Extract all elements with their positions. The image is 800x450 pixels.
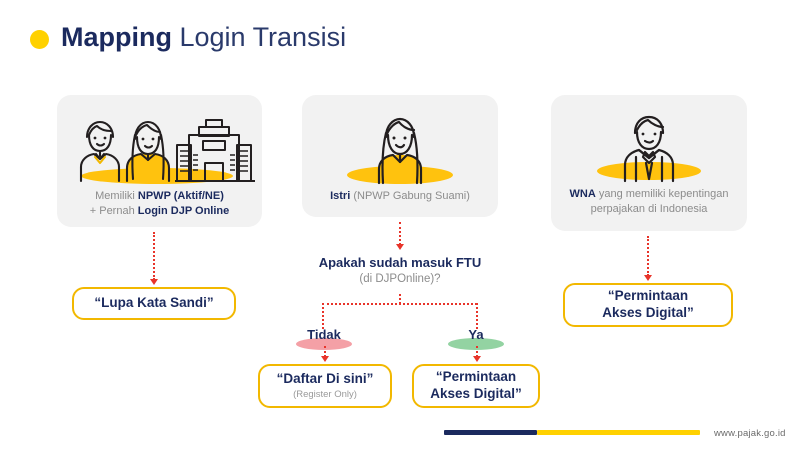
branch-text-yes: Ya [441,327,511,342]
branch-leg-yes [476,303,478,329]
woman-avatar-icon [335,95,465,189]
page-header: Mapping Login Transisi [30,24,346,51]
branch-label-ya: Ya [441,327,511,342]
branch-text-no: Tidak [289,327,359,342]
branch-label-tidak: Tidak [289,327,359,342]
outcome-daftar-di-sini[interactable]: “Daftar Di sini” (Register Only) [258,364,392,408]
outcome-akses-line-1: “Permintaan [608,288,688,305]
arrow-head-card1 [150,279,158,285]
footer-url: www.pajak.go.id [714,428,786,439]
connector-card2-to-question [399,222,401,245]
arrow-head-no [321,356,329,362]
businessman-avatar-icon [584,95,714,187]
decision-question-line-2: (di DJPOnline)? [283,272,517,287]
card-npwp-aktif: Memiliki NPWP (Aktif/NE) + Pernah Login … [57,95,262,227]
outcome-akses2-line-1: “Permintaan [436,369,516,386]
page-title-bold: Mapping [61,22,172,52]
connector-card3-to-akses [647,236,649,276]
card-caption-wna: WNA yang memiliki kepentingan perpajakan… [551,187,747,217]
outcome-daftar-sublabel: (Register Only) [293,389,357,401]
card-wna: WNA yang memiliki kepentingan perpajakan… [551,95,747,231]
footer-bar-navy [444,430,537,435]
slide-root: Mapping Login Transisi [0,0,800,450]
outcome-lupa-label: “Lupa Kata Sandi” [94,295,213,312]
caption-line-1: Memiliki NPWP (Aktif/NE) [95,190,224,202]
connector-card1-to-lupa [153,232,155,280]
bullet-dot-icon [30,30,49,49]
card-caption-npwp-aktif: Memiliki NPWP (Aktif/NE) + Pernah Login … [82,189,238,219]
arrow-head-card2 [396,244,404,250]
card-caption-istri: Istri (NPWP Gabung Suami) [322,189,478,204]
decision-question-line-1: Apakah sudah masuk FTU [283,255,517,272]
outcome-lupa-kata-sandi[interactable]: “Lupa Kata Sandi” [72,287,236,320]
outcome-daftar-label: “Daftar Di sini” [277,371,374,388]
outcome-akses2-line-2: Akses Digital” [430,386,522,403]
outcome-permintaan-akses-digital-wna[interactable]: “Permintaan Akses Digital” [563,283,733,327]
arrow-head-yes [473,356,481,362]
card-istri: Istri (NPWP Gabung Suami) [302,95,498,217]
decision-question: Apakah sudah masuk FTU (di DJPOnline)? [283,255,517,287]
arrow-head-card3 [644,275,652,281]
outcome-akses-line-2: Akses Digital” [602,305,694,322]
caption-line-2: + Pernah Login DJP Online [90,205,230,217]
page-title: Mapping Login Transisi [61,24,346,51]
branch-leg-no [322,303,324,329]
two-people-and-tax-office-building-icon [65,95,255,189]
page-title-rest: Login Transisi [172,22,346,52]
footer-bar-yellow [537,430,700,435]
branch-bracket-horizontal [322,303,477,305]
outcome-permintaan-akses-digital[interactable]: “Permintaan Akses Digital” [412,364,540,408]
